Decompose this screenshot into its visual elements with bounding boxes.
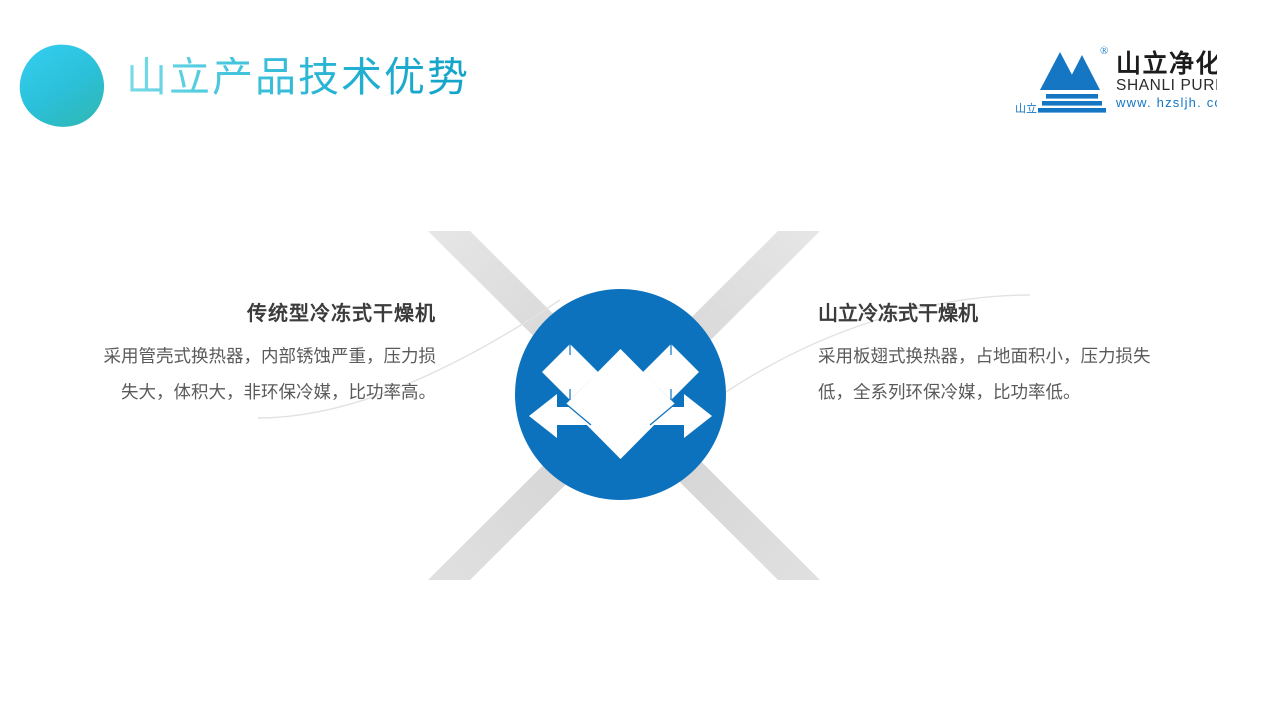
logo-brand-cn: 山立净化 (1116, 49, 1217, 78)
exchange-diamonds-icon (529, 344, 712, 459)
logo-brand-en: SHANLI PURIFY (1116, 77, 1217, 94)
company-logo: 山立 ® 山立净化 SHANLI PURIFY www. hzsljh. com (1012, 40, 1217, 120)
slide-root: 山立产品技术优势 山立 ® 山立净化 SHANLI PURIFY www. hz… (0, 0, 1280, 720)
mountain-mark (1038, 52, 1106, 113)
logo-mark-caption: 山立 (1015, 101, 1037, 115)
column-traditional: 传统型冷冻式干燥机 采用管壳式换热器，内部锈蚀严重，压力损失大，体积大，非环保冷… (88, 300, 436, 412)
logo-website: www. hzsljh. com (1115, 95, 1217, 110)
page-title: 山立产品技术优势 (126, 57, 470, 98)
header-blob-decoration (17, 43, 105, 128)
registered-mark-icon: ® (1100, 45, 1108, 57)
column-shanli-body: 采用板翅式换热器，占地面积小，压力损失低，全系列环保冷媒，比功率低。 (818, 340, 1166, 412)
center-comparison-icon (515, 289, 726, 500)
column-traditional-body: 采用管壳式换热器，内部锈蚀严重，压力损失大，体积大，非环保冷媒，比功率高。 (88, 340, 436, 412)
column-shanli-heading: 山立冷冻式干燥机 (818, 300, 1166, 326)
column-traditional-heading: 传统型冷冻式干燥机 (88, 300, 436, 326)
column-shanli: 山立冷冻式干燥机 采用板翅式换热器，占地面积小，压力损失低，全系列环保冷媒，比功… (818, 300, 1166, 412)
